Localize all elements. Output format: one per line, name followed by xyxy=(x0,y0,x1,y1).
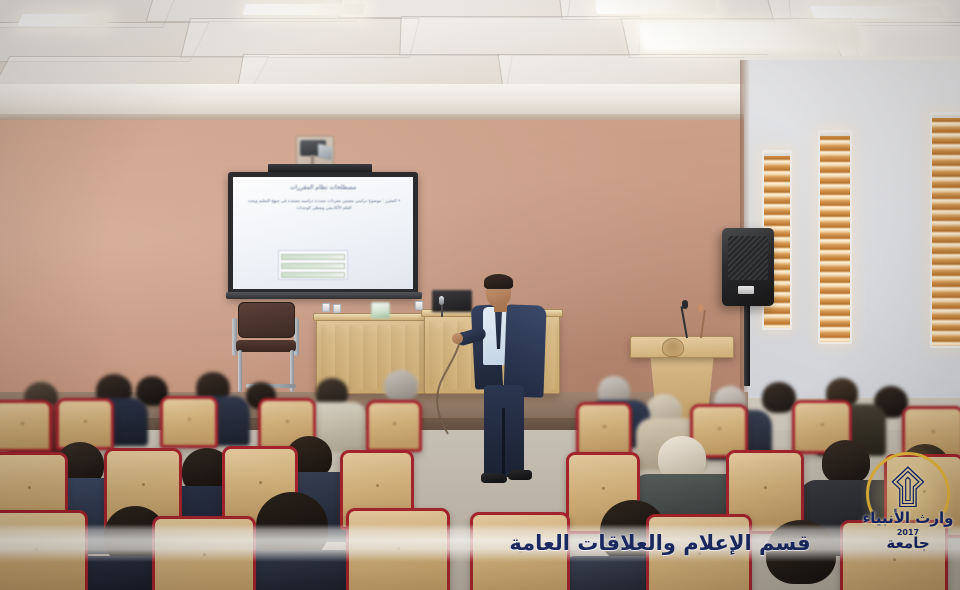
window-blinds xyxy=(930,112,960,348)
ceiling-light xyxy=(243,4,366,15)
ceiling-tile xyxy=(237,54,513,88)
speaker-grill-icon xyxy=(728,236,768,280)
ceiling-light xyxy=(17,14,111,26)
slide-table xyxy=(278,250,348,280)
slide-table-row xyxy=(281,254,345,260)
speaker-badge xyxy=(738,286,754,294)
presenter-leg-split xyxy=(502,408,505,478)
presenter-hair xyxy=(484,274,513,289)
blind-headrail xyxy=(930,112,960,118)
presenter-shoe xyxy=(481,473,507,483)
podium-mic-head-icon xyxy=(698,304,703,312)
chair-leg xyxy=(238,350,242,392)
auditorium-seat[interactable] xyxy=(160,396,218,448)
podium-mic-head-icon xyxy=(682,300,688,309)
ceiling-tile xyxy=(180,18,420,58)
table-microphone-icon[interactable] xyxy=(439,296,444,305)
blind-headrail xyxy=(818,130,852,136)
presenter-shoe xyxy=(508,470,532,480)
audience-head xyxy=(384,370,418,401)
slide-table-row xyxy=(281,272,345,278)
slide-body-text: • المقرر : موضوع دراسي يتضمن مفردات محدد… xyxy=(246,198,402,211)
caption-text: قسم الإعلام والعلاقات العامة xyxy=(480,527,840,559)
water-glass[interactable] xyxy=(333,304,341,313)
projector-lens-icon xyxy=(318,144,332,161)
audience-head xyxy=(762,382,796,413)
office-chair-back[interactable] xyxy=(238,302,295,338)
podium-emblem-icon xyxy=(662,338,684,357)
ceiling-tile xyxy=(399,16,640,56)
blind-slats xyxy=(820,132,850,342)
laptop[interactable] xyxy=(432,290,472,312)
presenter-hand xyxy=(452,333,463,344)
presenter-jacket-right xyxy=(503,304,546,397)
blind-headrail xyxy=(762,150,792,156)
ceiling-light xyxy=(810,6,945,18)
office-chair-seat[interactable] xyxy=(236,340,296,352)
water-glass[interactable] xyxy=(415,301,423,310)
speaker-stand-pole xyxy=(744,304,750,386)
whiteboard-tray xyxy=(226,292,422,299)
photo-canvas: مصطلحات نظام المقررات • المقرر : موضوع د… xyxy=(0,0,960,590)
glasses-icon xyxy=(487,288,509,293)
slide-table-row xyxy=(281,263,345,269)
logo-name-line1: وارث الأنبياء xyxy=(858,510,958,527)
logo-name-line2: جامعة xyxy=(858,535,958,551)
window-blinds xyxy=(818,130,852,344)
auditorium-seat[interactable] xyxy=(576,402,632,456)
ceiling-light xyxy=(637,22,864,50)
water-glass[interactable] xyxy=(322,303,330,312)
auditorium-seat[interactable] xyxy=(0,400,52,452)
auditorium-seat[interactable] xyxy=(366,400,422,452)
tissue-box[interactable] xyxy=(371,302,390,319)
ceiling-tile xyxy=(498,54,773,88)
slide-title: مصطلحات نظام المقررات xyxy=(246,182,400,193)
blind-slats xyxy=(932,114,960,346)
ceiling-light xyxy=(595,0,717,14)
university-logo: ۩ وارث الأنبياء 2017 جامعة xyxy=(856,438,960,554)
table-microphone-stand xyxy=(441,303,443,317)
